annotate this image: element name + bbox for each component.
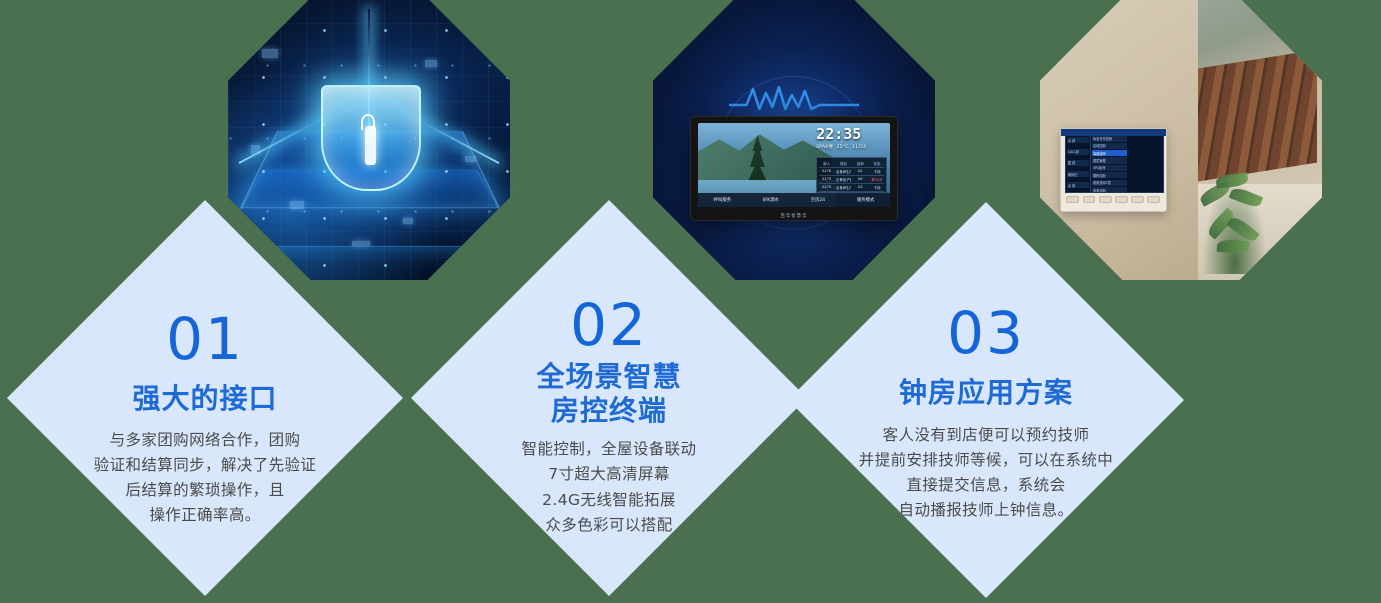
body-line: 操作正确率高。	[94, 503, 317, 528]
body-line: 7寸超大高清屏幕	[522, 462, 697, 487]
clock-location: SPA6楼	[816, 145, 833, 150]
menu-item[interactable]: 点 钟	[1067, 137, 1089, 143]
cell-item: 全身养生SPA	[836, 185, 851, 190]
cell-item: 正骨加子宫保养护	[836, 177, 851, 182]
service-status-table: 房人 项目 技师 状态 A178 全身养生SPA A2 下钟	[816, 157, 887, 194]
hw-button[interactable]	[1099, 196, 1112, 203]
option-item-selected[interactable]: 保健技师	[1092, 150, 1127, 156]
title-line: 全场景智慧	[536, 360, 681, 394]
menu-item[interactable]: CALL钟	[1067, 149, 1089, 155]
hw-button[interactable]	[1131, 196, 1144, 203]
card-body-03: 客人没有到店便可以预约技师 并提前安排技师等候，可以在系统中 直接提交信息，系统…	[859, 423, 1113, 523]
table-header-row: 房人 项目 技师 状态	[819, 160, 884, 168]
cell-item: 全身养生SPA	[836, 169, 851, 174]
title-line: 房控终端	[536, 394, 681, 428]
hw-button[interactable]	[1147, 196, 1160, 203]
card-body-02: 智能控制，全屋设备联动 7寸超大高清屏幕 2.4G无线智能拓展 众多色彩可以搭配	[522, 437, 697, 537]
toolbar-call-service[interactable]: 呼叫服务	[714, 197, 732, 203]
hw-button[interactable]	[1066, 196, 1079, 203]
screen-toolbar[interactable]: 呼叫服务 好K酒水 空房24 服务模式	[698, 193, 891, 206]
tablet-screen: 22:35 SPA6楼 25°C 11/24 房人 项目 技师	[698, 123, 891, 206]
body-line: 并提前安排技师等候，可以在系统中	[859, 448, 1113, 473]
option-item[interactable]: SPA技师	[1092, 165, 1127, 171]
shield-lock-icon	[321, 85, 421, 191]
device-brand-label: 百年智慧云	[691, 213, 898, 219]
th-item: 项目	[836, 161, 851, 166]
table-row: A179 正骨加子宫保养护 A6 剩15分	[819, 176, 884, 184]
clock-widget: 22:35 SPA6楼 25°C 11/24	[816, 127, 887, 150]
option-item[interactable]: 楼层管理	[1092, 157, 1127, 163]
card-body-01: 与多家团购网络合作，团购 验证和结算同步，解决了先验证 后结算的繁琐操作，且 操…	[94, 428, 317, 528]
heartbeat-pulse-icon	[729, 83, 859, 113]
cell-room: A179	[819, 177, 834, 182]
menu-item[interactable]: 点 钟	[1067, 182, 1089, 188]
option-item[interactable]: 看房技师2层	[1092, 180, 1127, 186]
cell-room: A175	[819, 185, 834, 190]
cell-tech: A2	[853, 169, 868, 174]
option-item[interactable]: 区域控制	[1092, 143, 1127, 149]
menu-item[interactable]: 换钟位	[1067, 171, 1089, 177]
body-line: 后结算的繁琐操作，且	[94, 478, 317, 503]
infographic-stage: 22:35 SPA6楼 25°C 11/24 房人 项目 技师	[0, 0, 1381, 603]
panel-hardware-buttons[interactable]	[1065, 196, 1162, 203]
card-title-01: 强大的接口	[132, 382, 277, 416]
cell-room: A178	[819, 169, 834, 174]
option-item[interactable]: 楼栋控制	[1092, 172, 1127, 178]
clock-meta: SPA6楼 25°C 11/24	[816, 144, 887, 150]
option-item[interactable]: 床系控制	[1092, 187, 1127, 193]
cell-tech: A6	[853, 177, 868, 182]
body-line: 众多色彩可以搭配	[522, 513, 697, 538]
panel-left-menu[interactable]: 点 钟 CALL钟 围 钟 换钟位 点 钟	[1066, 134, 1091, 192]
card-number-03: 03	[947, 304, 1025, 362]
th-tech: 技师	[853, 161, 868, 166]
potted-plant	[1198, 167, 1271, 274]
card-title-02: 全场景智慧 房控终端	[536, 360, 681, 428]
option-item[interactable]: 休息专享技师	[1092, 135, 1127, 141]
clock-time: 22:35	[816, 127, 887, 142]
card-number-01: 01	[166, 310, 244, 368]
card-number-02: 02	[570, 296, 648, 354]
toolbar-vacant-rooms[interactable]: 空房24	[811, 197, 825, 203]
cell-status: 下钟	[870, 185, 885, 190]
mountain-wallpaper	[698, 130, 833, 182]
body-line: 验证和结算同步，解决了先验证	[94, 453, 317, 478]
th-room: 房人	[819, 161, 834, 166]
th-status: 状态	[870, 161, 885, 166]
body-line: 直接提交信息，系统会	[859, 473, 1113, 498]
room-control-tablet: 22:35 SPA6楼 25°C 11/24 房人 项目 技师	[690, 116, 899, 220]
body-line: 自动播报技师上钟信息。	[859, 498, 1113, 523]
smart-tablet-image: 22:35 SPA6楼 25°C 11/24 房人 项目 技师	[653, 0, 935, 280]
cell-tech: A3	[853, 185, 868, 190]
menu-item[interactable]: 围 钟	[1067, 160, 1089, 166]
toolbar-service-mode[interactable]: 服务模式	[857, 197, 875, 203]
wood-partition	[1187, 50, 1317, 183]
table-row: A178 全身养生SPA A2 下钟	[819, 168, 884, 176]
clock-temp: 25°C	[837, 145, 849, 150]
panel-option-grid[interactable]: 休息专享技师 区域控制 保健技师 楼层管理 SPA技师 楼栋控制 看房技师2层 …	[1091, 134, 1163, 192]
shield-circuit-image	[228, 0, 510, 280]
hw-button[interactable]	[1115, 196, 1128, 203]
panel-title-bar	[1065, 133, 1164, 136]
body-line: 智能控制，全屋设备联动	[522, 437, 697, 462]
table-row: A175 全身养生SPA A3 下钟	[819, 184, 884, 192]
spa-corridor-image: 点 钟 CALL钟 围 钟 换钟位 点 钟 休息专享技师 区域控制 保健技师 楼…	[1040, 0, 1322, 280]
card-title-03: 钟房应用方案	[899, 376, 1073, 410]
body-line: 与多家团购网络合作，团购	[94, 428, 317, 453]
panel-screen: 点 钟 CALL钟 围 钟 换钟位 点 钟 休息专享技师 区域控制 保健技师 楼…	[1065, 133, 1164, 193]
cell-status: 剩15分	[870, 177, 885, 182]
clock-date: 11/24	[852, 145, 866, 150]
toolbar-drinks[interactable]: 好K酒水	[763, 197, 779, 203]
wall-control-panel[interactable]: 点 钟 CALL钟 围 钟 换钟位 点 钟 休息专享技师 区域控制 保健技师 楼…	[1060, 128, 1167, 213]
hw-button[interactable]	[1083, 196, 1096, 203]
body-line: 2.4G无线智能拓展	[522, 488, 697, 513]
cell-status: 下钟	[870, 169, 885, 174]
body-line: 客人没有到店便可以预约技师	[859, 423, 1113, 448]
